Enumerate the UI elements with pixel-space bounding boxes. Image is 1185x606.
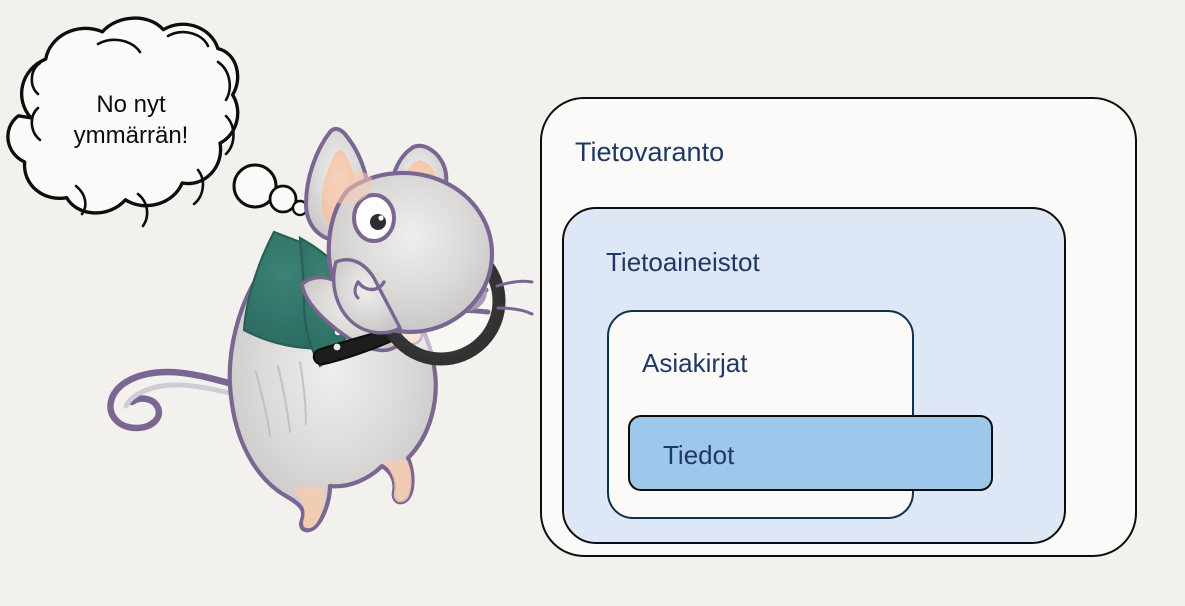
mouse-illustration: No nyt ymmärrän!	[0, 0, 540, 601]
box-tietoaineistot-label: Tietoaineistot	[606, 249, 760, 275]
thought-bubble-text: No nyt ymmärrän!	[46, 90, 216, 151]
box-tiedot-label: Tiedot	[663, 442, 734, 468]
box-asiakirjat-label: Asiakirjat	[642, 350, 747, 376]
slide-canvas: No nyt ymmärrän! Tietovaranto Tietoainei…	[0, 0, 1185, 601]
nested-concept-diagram: Tietovaranto Tietoaineistot Asiakirjat T…	[540, 97, 1137, 557]
box-tiedot[interactable]: Tiedot	[628, 415, 993, 491]
mouse-pupil	[370, 214, 386, 230]
box-tietovaranto-label: Tietovaranto	[575, 139, 724, 166]
